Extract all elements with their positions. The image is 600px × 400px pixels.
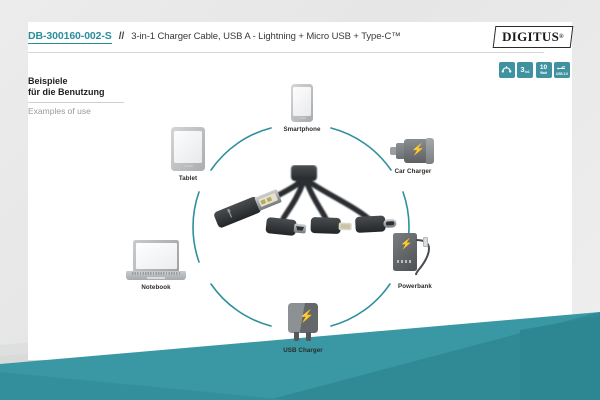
node-usb-charger: ⚡ USB Charger bbox=[284, 303, 322, 354]
node-smartphone: Smartphone bbox=[280, 84, 324, 133]
usb-icon bbox=[557, 65, 567, 72]
node-label-powerbank: Powerbank bbox=[398, 283, 432, 290]
notebook-screen bbox=[136, 243, 177, 269]
badge-usb-2-0-icon: USB 2.0 bbox=[554, 62, 570, 78]
rotating-connector-icon bbox=[501, 65, 512, 76]
badge-10-watt-icon: 10 Watt bbox=[536, 62, 552, 78]
section-heading-block: Beispiele für die Benutzung Examples of … bbox=[28, 76, 140, 117]
slide-canvas: DB-300160-002-S // 3-in-1 Charger Cable,… bbox=[0, 0, 600, 400]
header-row: DB-300160-002-S // 3-in-1 Charger Cable,… bbox=[28, 30, 448, 50]
header-separator: // bbox=[119, 31, 125, 42]
notebook-icon bbox=[126, 240, 186, 280]
node-notebook: Notebook bbox=[122, 240, 190, 291]
smartphone-icon bbox=[291, 84, 313, 122]
lightning-bolt-icon: ⚡ bbox=[299, 311, 314, 322]
lightning-bolt-icon: ⚡ bbox=[411, 145, 425, 156]
digitus-logo: DIGITUS® bbox=[494, 26, 572, 48]
usb-charger-icon: ⚡ bbox=[286, 303, 320, 343]
usb-charger-pin-right bbox=[306, 332, 311, 341]
section-heading-en: Examples of use bbox=[28, 106, 140, 117]
usb-charger-body: ⚡ bbox=[288, 303, 318, 333]
product-sku: DB-300160-002-S bbox=[28, 30, 112, 44]
node-label-smartphone: Smartphone bbox=[283, 126, 320, 133]
logo-brand-text: DIGITUS bbox=[502, 29, 559, 45]
smartphone-screen bbox=[293, 87, 311, 116]
section-heading-de-line2: für die Benutzung bbox=[28, 87, 140, 98]
feature-badges: 3 in1 10 Watt USB 2.0 bbox=[499, 62, 571, 78]
car-charger-body: ⚡ bbox=[404, 139, 428, 163]
badge-usb-version: USB 2.0 bbox=[556, 72, 568, 76]
notebook-keyboard bbox=[132, 272, 180, 275]
car-charger-socket bbox=[426, 138, 434, 164]
badge-3in1-number: 3 bbox=[520, 66, 524, 74]
notebook-trackpad bbox=[147, 277, 165, 279]
smartphone-home-button bbox=[299, 117, 306, 119]
badge-rotating-connector-icon bbox=[499, 62, 515, 78]
notebook-lid bbox=[133, 240, 179, 271]
tablet-icon bbox=[171, 127, 205, 171]
logo-wordmark: DIGITUS® bbox=[494, 26, 572, 48]
tablet-home-button bbox=[184, 165, 193, 167]
car-charger-icon: ⚡ bbox=[390, 138, 436, 164]
logo-trademark: ® bbox=[559, 34, 564, 40]
section-heading-de: Beispiele für die Benutzung bbox=[28, 76, 140, 98]
node-label-tablet: Tablet bbox=[179, 175, 197, 182]
section-heading-divider bbox=[28, 102, 124, 103]
charger-cable-product bbox=[203, 165, 403, 265]
section-heading-de-line1: Beispiele bbox=[28, 76, 140, 87]
badge-3in1-suffix: in1 bbox=[525, 70, 530, 74]
badge-watt-unit: Watt bbox=[540, 71, 547, 75]
tablet-screen bbox=[174, 131, 202, 163]
node-label-usb-charger: USB Charger bbox=[283, 347, 323, 354]
powerbank-usb-plug bbox=[423, 237, 428, 247]
usb-charger-pin-left bbox=[294, 332, 299, 341]
product-title: 3-in-1 Charger Cable, USB A - Lightning … bbox=[131, 31, 400, 42]
node-label-notebook: Notebook bbox=[141, 284, 170, 291]
badge-three-in-one-icon: 3 in1 bbox=[517, 62, 533, 78]
header-divider bbox=[28, 52, 544, 53]
